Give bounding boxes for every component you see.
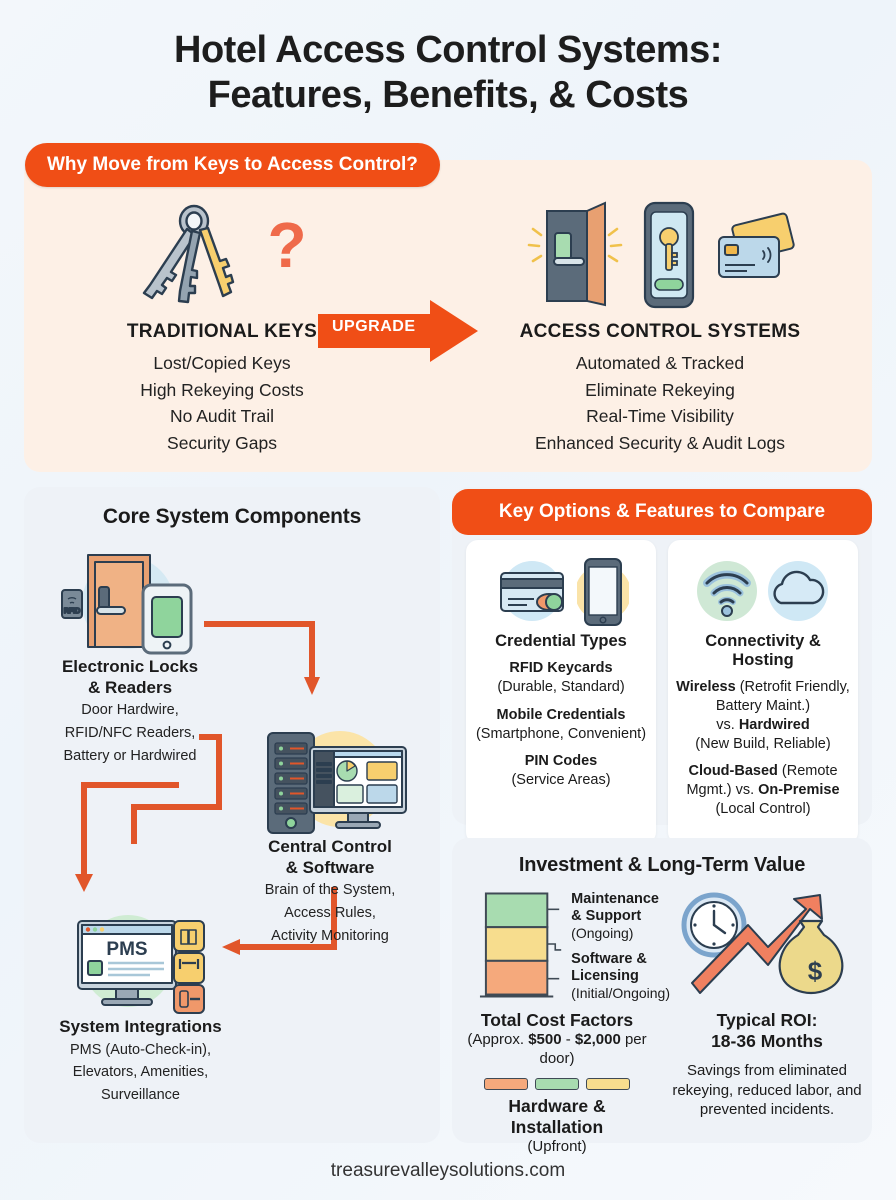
upgrade-arrow-label: UPGRADE — [332, 318, 416, 336]
svg-text:RFID: RFID — [64, 608, 80, 615]
opt-item-mobile-bold: Mobile Credentials — [497, 707, 626, 723]
legend-swatch-software — [586, 1078, 630, 1090]
list-item: No Audit Trail — [42, 403, 402, 430]
central-control-icon-wrap — [230, 725, 430, 837]
total-cost-high: $2,000 — [575, 1031, 621, 1048]
legend-swatch-maintenance — [535, 1078, 579, 1090]
opt-item-pin-sub: (Service Areas) — [511, 772, 610, 788]
svg-text:$: $ — [808, 956, 823, 986]
opt-item-mobile: Mobile Credentials (Smartphone, Convenie… — [474, 706, 648, 744]
stack-label-maintenance-2: & Support — [571, 908, 670, 925]
opt-item-wireless-bold: Wireless — [676, 679, 736, 695]
page-title: Hotel Access Control Systems: Features, … — [0, 0, 896, 128]
credential-types-icons — [474, 554, 648, 628]
opt-item-hardwired-bold: Hardwired — [739, 717, 810, 733]
system-integrations-sub-3: Surveillance — [18, 1086, 263, 1106]
wifi-icon — [695, 555, 759, 627]
opt-item-onpremise-bold: On-Premise — [758, 782, 839, 798]
credential-types-card: Credential Types RFID Keycards (Durable,… — [466, 540, 656, 844]
smartphone-icon — [577, 555, 629, 627]
page-title-line2: Features, Benefits, & Costs — [40, 73, 856, 118]
smart-door-lock-icon — [523, 199, 627, 311]
investment-title: Investment & Long-Term Value — [452, 838, 872, 877]
footer-website: treasurevalleysolutions.com — [0, 1160, 896, 1182]
list-item: Real-Time Visibility — [472, 403, 848, 430]
pms-monitor-icon: PMS — [56, 905, 226, 1017]
cost-stack-area: Maintenance & Support (Ongoing) Software… — [452, 885, 670, 1007]
roi-heading-line2: 18-36 Months — [672, 1031, 862, 1052]
total-cost-mid: - — [562, 1031, 575, 1048]
opt-item-wireless: Wireless (Retrofit Friendly, Battery Mai… — [676, 678, 850, 753]
opt-item-hardwired-sub: (New Build, Reliable) — [695, 736, 830, 752]
access-control-heading: ACCESS CONTROL SYSTEMS — [472, 321, 848, 343]
question-mark-icon: ? — [262, 205, 312, 305]
opt-item-rfid-sub: (Durable, Standard) — [497, 679, 624, 695]
traditional-keys-icons: ? — [42, 195, 402, 315]
investment-bottom-row: Total Cost Factors (Approx. $500 - $2,00… — [452, 1010, 872, 1156]
svg-text:PMS: PMS — [106, 939, 147, 960]
list-item: High Rekeying Costs — [42, 377, 402, 404]
keys-icon — [132, 199, 252, 311]
total-cost-low: $500 — [528, 1031, 561, 1048]
roi-column: Typical ROI: 18-36 Months Savings from e… — [662, 1010, 872, 1156]
roi-heading-line1: Typical ROI: — [672, 1010, 862, 1031]
connectivity-hosting-icons — [676, 554, 850, 628]
stack-label-maintenance-sub: (Ongoing) — [571, 925, 670, 942]
opt-item-onpremise-sub: (Local Control) — [715, 801, 810, 817]
cloud-icon — [765, 555, 831, 627]
hardware-install-heading: Hardware & Installation — [462, 1096, 652, 1138]
connectivity-hosting-card: Connectivity & Hosting Wireless (Retrofi… — [668, 540, 858, 844]
cost-legend-swatches — [462, 1078, 652, 1090]
keycard-icon — [711, 199, 797, 311]
electronic-locks-heading-line2: & Readers — [10, 678, 250, 699]
access-control-column: ACCESS CONTROL SYSTEMS Automated & Track… — [472, 195, 848, 456]
why-move-badge: Why Move from Keys to Access Control? — [25, 143, 440, 187]
total-cost-pre: (Approx. — [467, 1031, 528, 1048]
door-lock-reader-phone-icon: RFID — [50, 545, 210, 657]
core-components-title: Core System Components — [24, 487, 440, 529]
list-item: Eliminate Rekeying — [472, 377, 848, 404]
cost-stack-labels: Maintenance & Support (Ongoing) Software… — [563, 885, 670, 1007]
central-control-sub-1: Brain of the System, — [230, 881, 430, 901]
keycard-icon — [493, 555, 571, 627]
stack-label-maintenance-1: Maintenance — [571, 891, 670, 908]
access-control-icons — [472, 195, 848, 315]
central-control-heading-line2: & Software — [230, 858, 430, 879]
stack-label-software-2: Licensing — [571, 968, 670, 985]
svg-text:?: ? — [267, 209, 306, 281]
system-integrations-heading: System Integrations — [18, 1017, 263, 1038]
access-control-list: Automated & Tracked Eliminate Rekeying R… — [472, 350, 848, 456]
stack-label-software-1: Software & — [571, 951, 670, 968]
key-options-cards: Credential Types RFID Keycards (Durable,… — [452, 540, 872, 844]
electronic-locks-heading-line1: Electronic Locks — [10, 657, 250, 678]
page-title-line1: Hotel Access Control Systems: — [174, 29, 722, 71]
mobile-key-icon — [637, 199, 701, 311]
system-integrations-sub-1: PMS (Auto-Check-in), — [18, 1041, 263, 1061]
stack-label-software-sub: (Initial/Ongoing) — [571, 985, 670, 1002]
total-cost-subtext: (Approx. $500 - $2,000 per door) — [462, 1031, 652, 1069]
system-integrations-icon-wrap: PMS — [18, 905, 263, 1017]
electronic-locks-sub-2: RFID/NFC Readers, — [10, 724, 250, 744]
key-options-badge: Key Options & Features to Compare — [452, 489, 872, 535]
cost-stack-chart — [476, 885, 563, 1003]
connectivity-hosting-heading: Connectivity & Hosting — [676, 632, 850, 670]
roi-icons: $ — [670, 885, 860, 1005]
server-dashboard-icon — [242, 725, 418, 837]
roi-paragraph: Savings from eliminated rekeying, reduce… — [672, 1061, 862, 1120]
hardware-install-sub: (Upfront) — [462, 1138, 652, 1157]
system-integrations-sub-2: Elevators, Amenities, — [18, 1063, 263, 1083]
opt-item-pin: PIN Codes (Service Areas) — [474, 752, 648, 790]
list-item: Enhanced Security & Audit Logs — [472, 430, 848, 457]
opt-item-rfid-bold: RFID Keycards — [509, 660, 612, 676]
opt-item-cloud-bold: Cloud-Based — [688, 763, 777, 779]
opt-item-mobile-sub: (Smartphone, Convenient) — [476, 726, 646, 742]
upgrade-arrow: UPGRADE — [318, 300, 478, 362]
opt-item-cloud: Cloud-Based (Remote Mgmt.) vs. On-Premis… — [676, 762, 850, 819]
node-electronic-locks: RFID Electronic Locks & Readers Door Har… — [10, 545, 250, 766]
electronic-locks-sub-3: Battery or Hardwired — [10, 747, 250, 767]
opt-item-wireless-normal: (Retrofit Friendly, Battery Maint.) — [716, 679, 850, 714]
electronic-locks-icon-wrap: RFID — [10, 545, 250, 657]
node-system-integrations: PMS System Integrations PMS (Auto-Check-… — [18, 905, 263, 1105]
central-control-heading-line1: Central Control — [230, 837, 430, 858]
opt-item-pin-bold: PIN Codes — [525, 753, 598, 769]
opt-item-wireless-vs: vs. — [716, 717, 739, 733]
opt-item-rfid: RFID Keycards (Durable, Standard) — [474, 659, 648, 697]
roi-icon-area: $ — [670, 885, 872, 1007]
list-item: Security Gaps — [42, 430, 402, 457]
list-item: Automated & Tracked — [472, 350, 848, 377]
total-cost-heading: Total Cost Factors — [462, 1010, 652, 1031]
electronic-locks-sub-1: Door Hardwire, — [10, 701, 250, 721]
total-cost-column: Total Cost Factors (Approx. $500 - $2,00… — [452, 1010, 662, 1156]
investment-top-row: Maintenance & Support (Ongoing) Software… — [452, 885, 872, 1007]
traditional-keys-list: Lost/Copied Keys High Rekeying Costs No … — [42, 350, 402, 456]
legend-swatch-hardware — [484, 1078, 528, 1090]
credential-types-heading: Credential Types — [474, 632, 648, 651]
